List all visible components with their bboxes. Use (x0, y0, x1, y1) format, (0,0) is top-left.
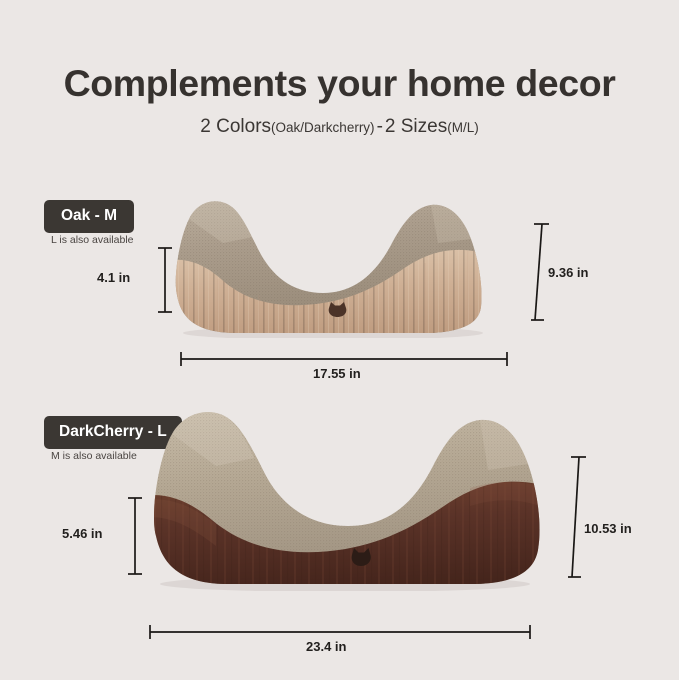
dimension-line-darkcherry-front-height (128, 496, 142, 576)
dimension-line-darkcherry-back-height (568, 455, 586, 579)
badge-oak-note: L is also available (51, 234, 134, 246)
product-image-darkcherry (140, 396, 561, 591)
dimension-label-oak-back-height: 9.36 in (548, 266, 588, 279)
page-subtitle: 2 Colors(Oak/Darkcherry)-2 Sizes(M/L) (0, 117, 679, 136)
dimension-label-oak-front-height: 4.1 in (97, 271, 130, 284)
subtitle-sizes-text: 2 Sizes (385, 116, 447, 137)
dimension-label-darkcherry-back-height: 10.53 in (584, 522, 632, 535)
dimension-line-oak-back-height (531, 222, 549, 322)
dimension-label-darkcherry-width: 23.4 in (306, 640, 346, 653)
subtitle-colors-detail: (Oak/Darkcherry) (271, 120, 375, 135)
dimension-label-darkcherry-front-height: 5.46 in (62, 527, 102, 540)
infographic-canvas: Complements your home decor 2 Colors(Oak… (0, 0, 679, 680)
dimension-line-darkcherry-width (148, 625, 532, 639)
badge-darkcherry-note: M is also available (51, 450, 137, 462)
dimension-line-oak-front-height (158, 246, 172, 314)
header: Complements your home decor 2 Colors(Oak… (0, 62, 679, 136)
page-title: Complements your home decor (0, 62, 679, 105)
subtitle-colors-text: 2 Colors (200, 116, 271, 137)
badge-oak: Oak - M (44, 200, 134, 233)
subtitle-separator: - (375, 116, 385, 137)
product-image-oak (163, 183, 516, 338)
dimension-line-oak-width (179, 352, 509, 366)
subtitle-sizes-detail: (M/L) (447, 120, 479, 135)
dimension-label-oak-width: 17.55 in (313, 367, 361, 380)
